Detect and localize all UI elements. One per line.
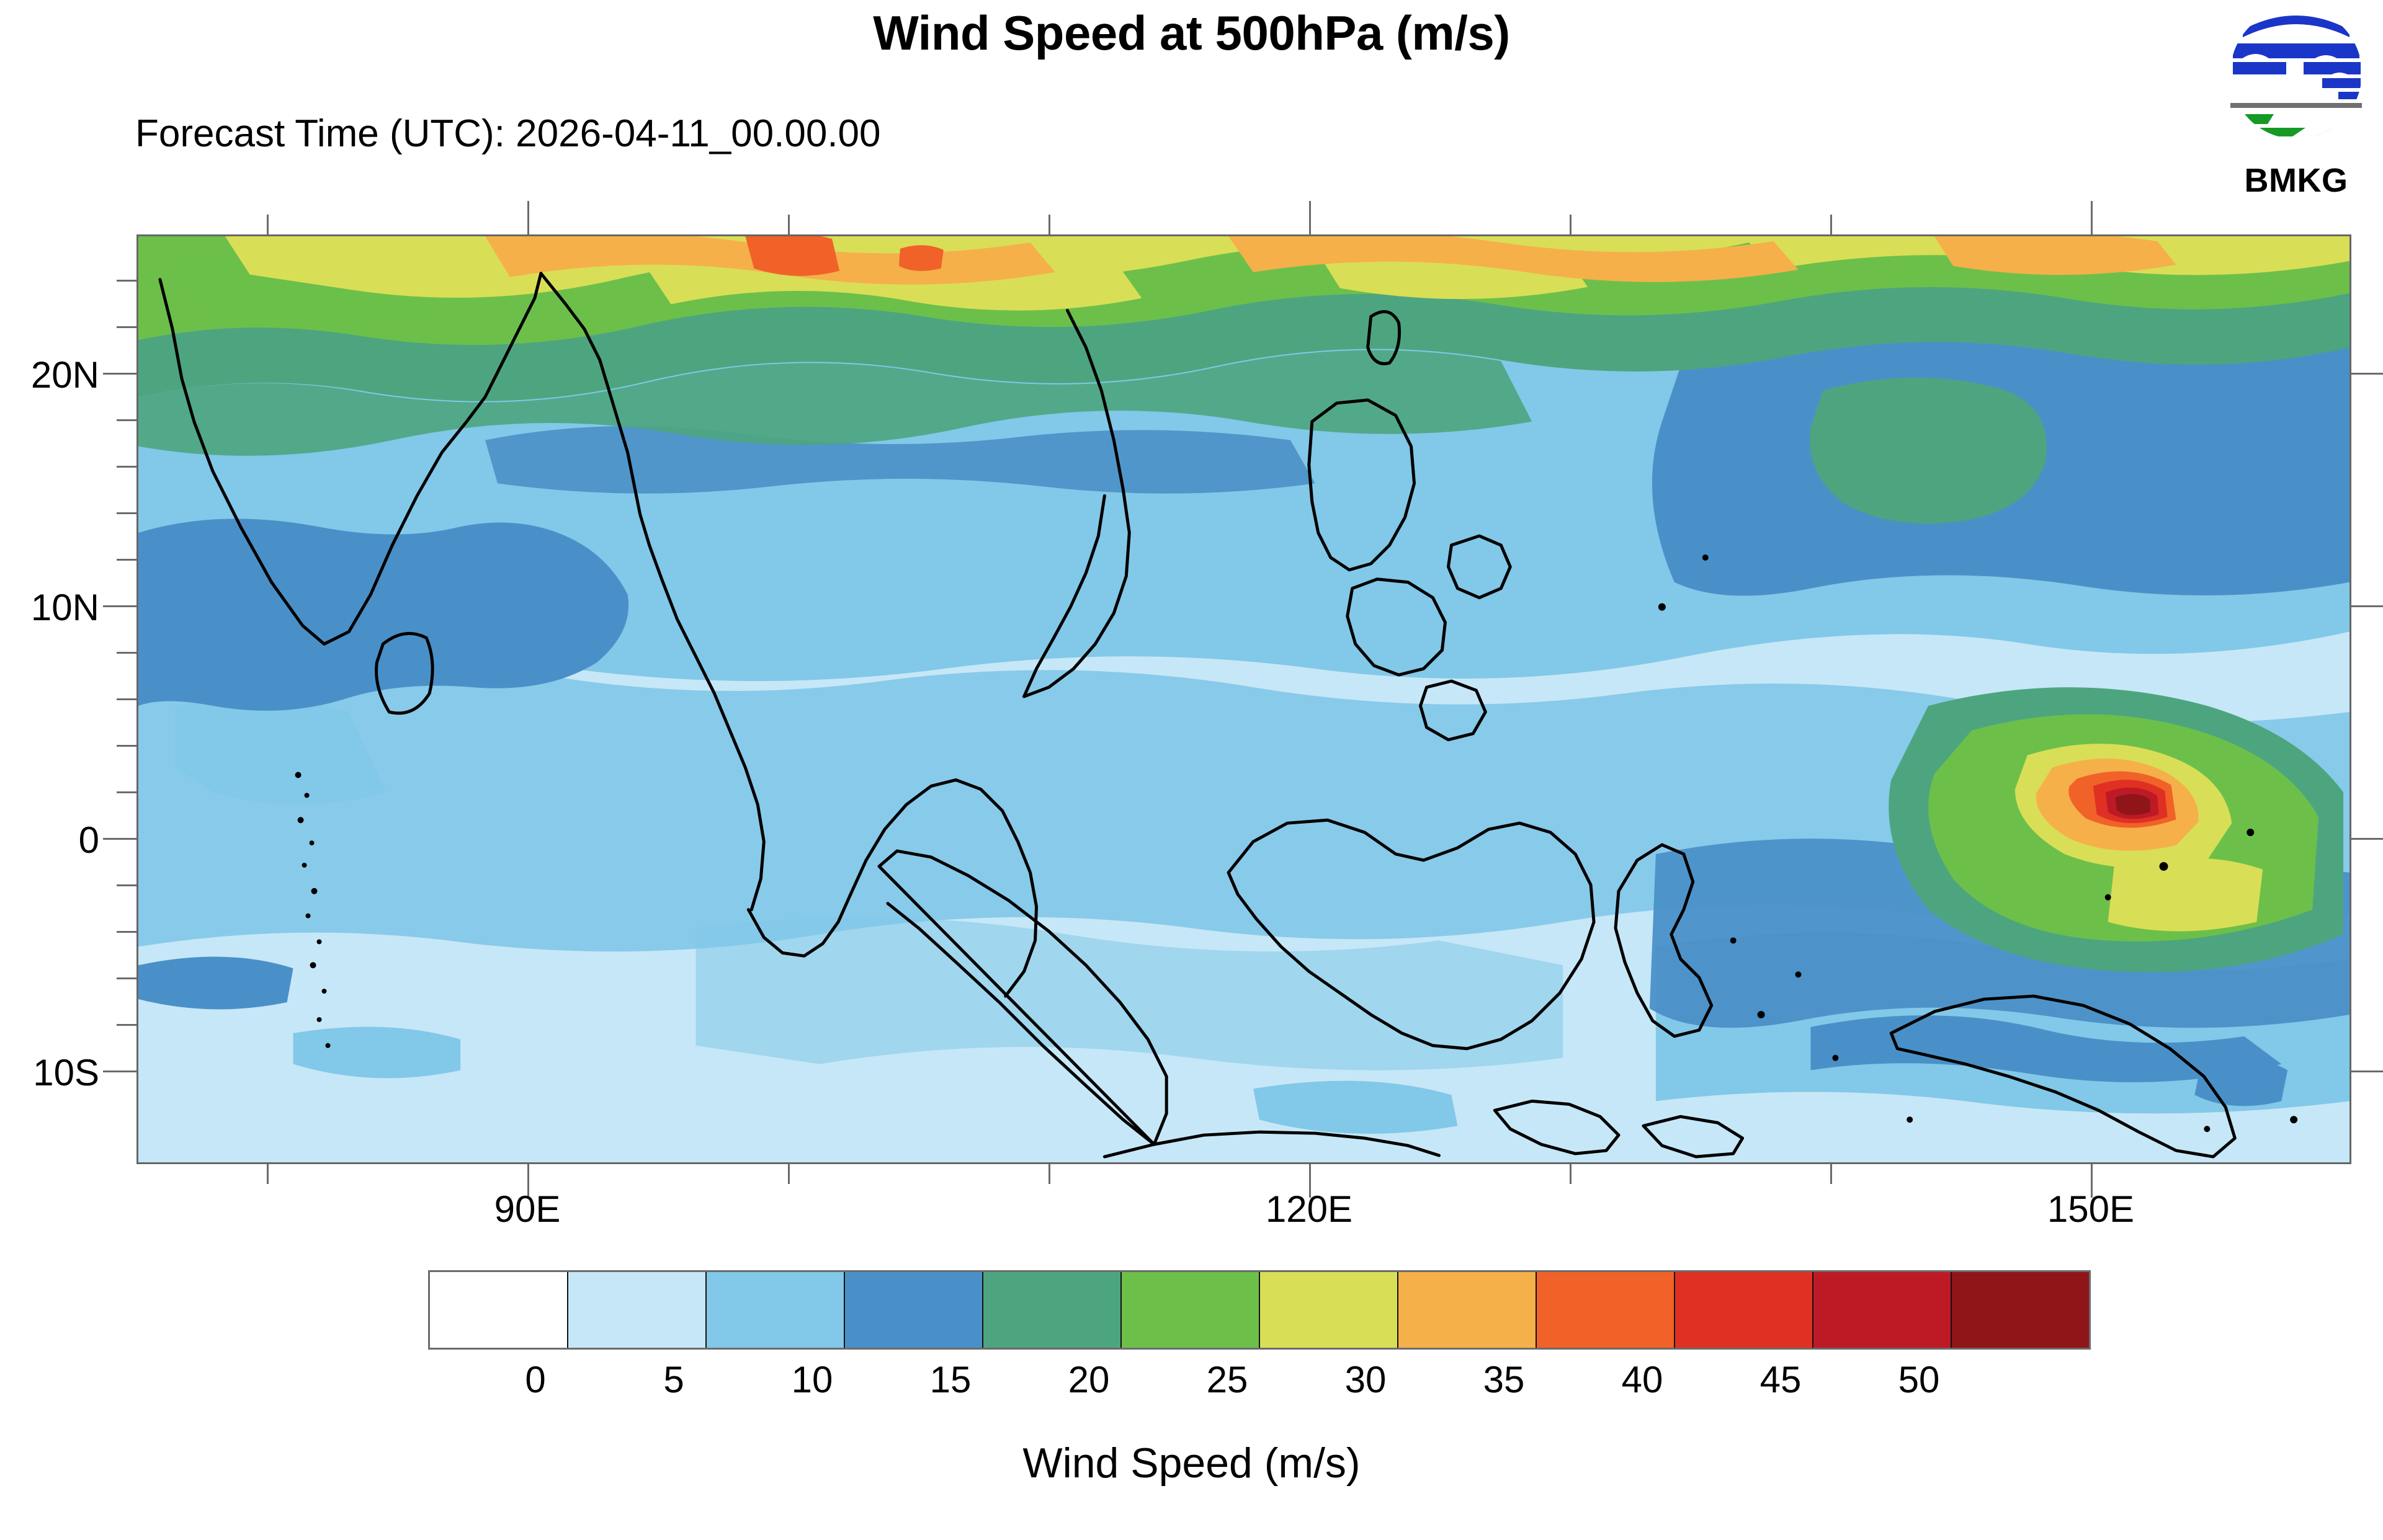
- x-top-minor-tick: [1048, 215, 1050, 234]
- x-top-tick-90E: [527, 201, 529, 234]
- colorbar[interactable]: [428, 1270, 2091, 1350]
- x-top-minor-tick: [267, 215, 269, 234]
- y-tick-10S: [103, 1070, 136, 1072]
- y-right-tick: [2351, 838, 2383, 840]
- colorbar-swatch-10-15: [845, 1272, 983, 1348]
- x-top-tick-150E: [2091, 201, 2093, 234]
- colorbar-tick-5: 5: [624, 1358, 723, 1401]
- y-minor-tick: [117, 280, 136, 282]
- x-axis-label-150E: 150E: [2004, 1188, 2178, 1231]
- colorbar-swatch-35-40: [1537, 1272, 1675, 1348]
- x-axis-label-90E: 90E: [440, 1188, 614, 1231]
- colorbar-swatch-45-50: [1813, 1272, 1952, 1348]
- x-minor-tick: [267, 1164, 269, 1184]
- colorbar-swatch-30-35: [1398, 1272, 1537, 1348]
- x-top-tick-120E: [1309, 201, 1311, 234]
- colorbar-tick-45: 45: [1731, 1358, 1830, 1401]
- x-axis-label-120E: 120E: [1222, 1188, 1396, 1231]
- bmkg-logo-svg: [2229, 5, 2363, 161]
- logo-divider: [2230, 103, 2362, 108]
- y-axis-label-10N: 10N: [31, 586, 99, 629]
- colorbar-tick-10: 10: [762, 1358, 862, 1401]
- x-minor-tick: [1830, 1164, 1832, 1184]
- colorbar-tick-50: 50: [1869, 1358, 1969, 1401]
- page-title: Wind Speed at 500hPa (m/s): [0, 5, 2383, 61]
- colorbar-swatch-15-20: [983, 1272, 1122, 1348]
- y-minor-tick: [117, 791, 136, 793]
- x-minor-tick: [1570, 1164, 1572, 1184]
- y-right-tick: [2351, 605, 2383, 607]
- y-minor-tick: [117, 419, 136, 421]
- x-tick-120E: [1309, 1164, 1311, 1198]
- colorbar-swatch-above-50: [1952, 1272, 2089, 1348]
- y-right-tick: [2351, 373, 2383, 375]
- y-minor-tick: [117, 559, 136, 561]
- logo-sky-group: [2233, 16, 2361, 99]
- y-minor-tick: [117, 1024, 136, 1026]
- x-top-minor-tick: [788, 215, 790, 234]
- y-tick-20N: [103, 373, 136, 375]
- y-minor-tick: [117, 745, 136, 747]
- x-top-minor-tick: [1830, 215, 1832, 234]
- y-minor-tick: [117, 977, 136, 979]
- y-minor-tick: [117, 884, 136, 886]
- colorbar-swatch-5-10: [707, 1272, 845, 1348]
- y-right-tick: [2351, 1070, 2383, 1072]
- y-minor-tick: [117, 698, 136, 700]
- y-minor-tick: [117, 512, 136, 514]
- colorbar-swatch-below-0: [430, 1272, 568, 1348]
- bmkg-logo-text: BMKG: [2224, 161, 2368, 200]
- x-minor-tick: [1048, 1164, 1050, 1184]
- y-minor-tick: [117, 652, 136, 654]
- bmkg-logo-mark: [2229, 5, 2363, 161]
- y-minor-tick: [117, 326, 136, 328]
- colorbar-swatch-40-45: [1675, 1272, 1813, 1348]
- forecast-time-label: Forecast Time (UTC): 2026-04-11_00.00.00: [135, 112, 881, 156]
- y-tick-0: [103, 838, 136, 840]
- wind-speed-map[interactable]: [136, 234, 2351, 1164]
- y-axis-label-0: 0: [79, 819, 99, 861]
- colorbar-tick-20: 20: [1039, 1358, 1138, 1401]
- colorbar-tick-30: 30: [1316, 1358, 1415, 1401]
- bmkg-logo: BMKG: [2224, 5, 2368, 210]
- y-minor-tick: [117, 466, 136, 468]
- colorbar-swatch-20-25: [1122, 1272, 1260, 1348]
- colorbar-tick-25: 25: [1178, 1358, 1277, 1401]
- logo-land-group: [2230, 114, 2362, 161]
- y-axis-label-20N: 20N: [31, 354, 99, 396]
- x-minor-tick: [788, 1164, 790, 1184]
- x-top-minor-tick: [1570, 215, 1572, 234]
- band-50-plus-group: [2116, 794, 2150, 815]
- colorbar-tick-15: 15: [901, 1358, 1000, 1401]
- colorbar-swatch-25-30: [1260, 1272, 1398, 1348]
- contour-map-svg: [138, 236, 2349, 1162]
- x-tick-90E: [527, 1164, 529, 1198]
- colorbar-tick-35: 35: [1454, 1358, 1554, 1401]
- colorbar-tick-40: 40: [1593, 1358, 1692, 1401]
- x-tick-150E: [2091, 1164, 2093, 1198]
- colorbar-swatch-0-5: [568, 1272, 707, 1348]
- colorbar-tick-0: 0: [486, 1358, 585, 1401]
- y-minor-tick: [117, 931, 136, 933]
- y-tick-10N: [103, 605, 136, 607]
- colorbar-title: Wind Speed (m/s): [0, 1439, 2383, 1487]
- y-axis-label-10S: 10S: [33, 1051, 99, 1094]
